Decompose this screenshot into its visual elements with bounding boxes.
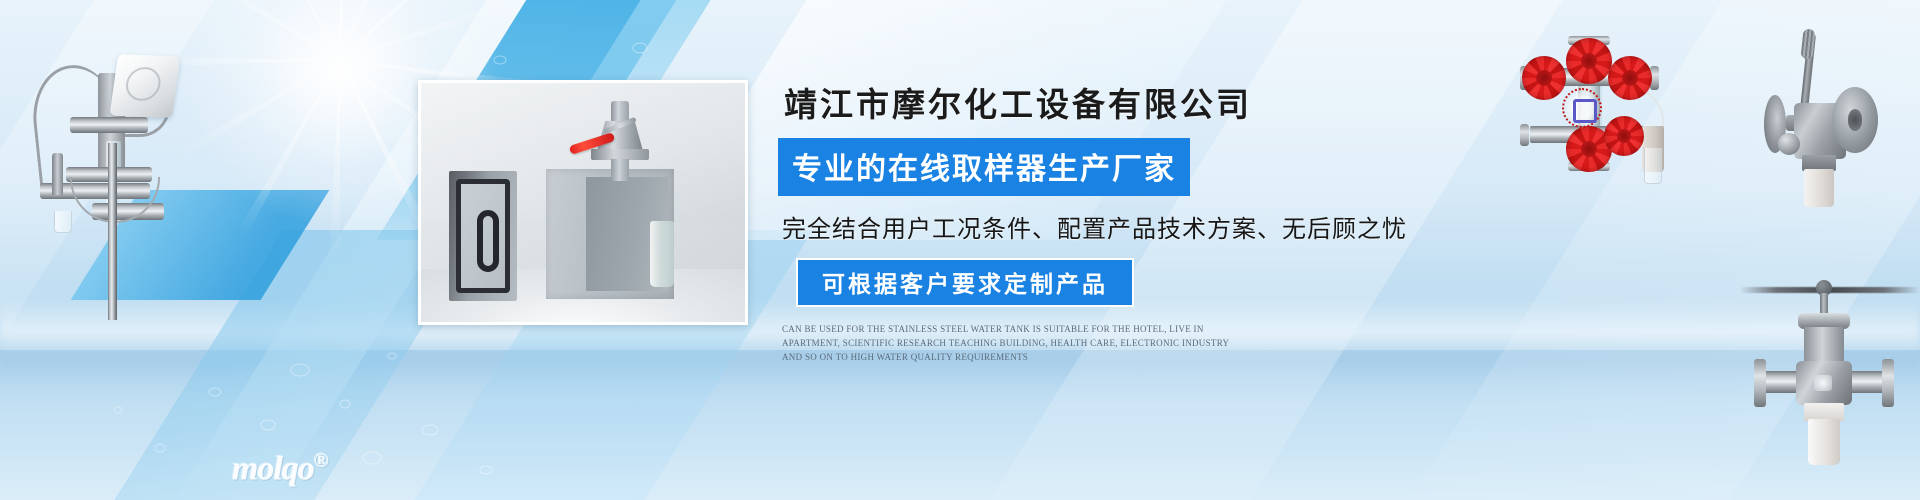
- sample-bottle: [1808, 419, 1840, 465]
- valve-flange: [1882, 359, 1894, 407]
- brand-watermark: molqo®: [232, 450, 329, 488]
- sample-bottle: [1804, 169, 1834, 207]
- custom-product-text: 可根据客户要求定制产品: [822, 271, 1108, 297]
- subline-text: 完全结合用户工况条件、配置产品技术方案、无后顾之忧: [778, 209, 1398, 244]
- banner-text-block: 靖江市摩尔化工设备有限公司 专业的在线取样器生产厂家 完全结合用户工况条件、配置…: [778, 78, 1398, 365]
- red-handwheel: [1566, 38, 1612, 84]
- pole-mounted-sampler-render: [10, 25, 210, 320]
- red-handwheel: [1522, 56, 1566, 100]
- cabinet-door: [449, 171, 517, 301]
- red-handwheel-cross-sampler-render: [1500, 30, 1680, 175]
- control-enclosure: [110, 54, 181, 118]
- photo-background: [421, 83, 745, 322]
- valve-flange: [1754, 359, 1766, 407]
- headline-text: 专业的在线取样器生产厂家: [792, 153, 1176, 186]
- headline-badge: 专业的在线取样器生产厂家: [778, 138, 1190, 196]
- adjustment-knob: [1778, 133, 1800, 155]
- manifold-section: [70, 117, 148, 133]
- company-seal-icon: [1814, 375, 1832, 391]
- online-sampler-cabinet-photo[interactable]: [418, 80, 748, 325]
- support-pole: [108, 143, 117, 320]
- sampler-cabinet: [546, 169, 674, 299]
- lever-angle-valve-sampler-render: [1760, 15, 1910, 220]
- handwheel-gate-valve-sampler-render: [1740, 275, 1920, 475]
- valve-stem: [611, 159, 629, 181]
- company-name: 靖江市摩尔化工设备有限公司: [778, 78, 1398, 126]
- red-handwheel: [1604, 116, 1644, 156]
- company-seal-icon: [1562, 88, 1602, 128]
- registered-mark: ®: [314, 450, 329, 472]
- english-description: CAN BE USED FOR THE STAINLESS STEEL WATE…: [778, 323, 1248, 365]
- relief-valve: [52, 153, 63, 195]
- custom-product-badge: 可根据客户要求定制产品: [796, 258, 1134, 307]
- cabinet-interior: [586, 177, 668, 291]
- valve-flange: [1832, 87, 1878, 153]
- sample-bottle: [1644, 148, 1662, 184]
- door-handle: [477, 210, 499, 272]
- watermark-text: molqo: [232, 450, 314, 487]
- sample-bottle: [650, 221, 674, 287]
- red-handwheel: [1608, 56, 1652, 100]
- sample-vial: [54, 211, 72, 233]
- promo-banner: 靖江市摩尔化工设备有限公司 专业的在线取样器生产厂家 完全结合用户工况条件、配置…: [0, 0, 1920, 500]
- door-panel: [456, 179, 510, 293]
- valve-flange: [1520, 124, 1529, 146]
